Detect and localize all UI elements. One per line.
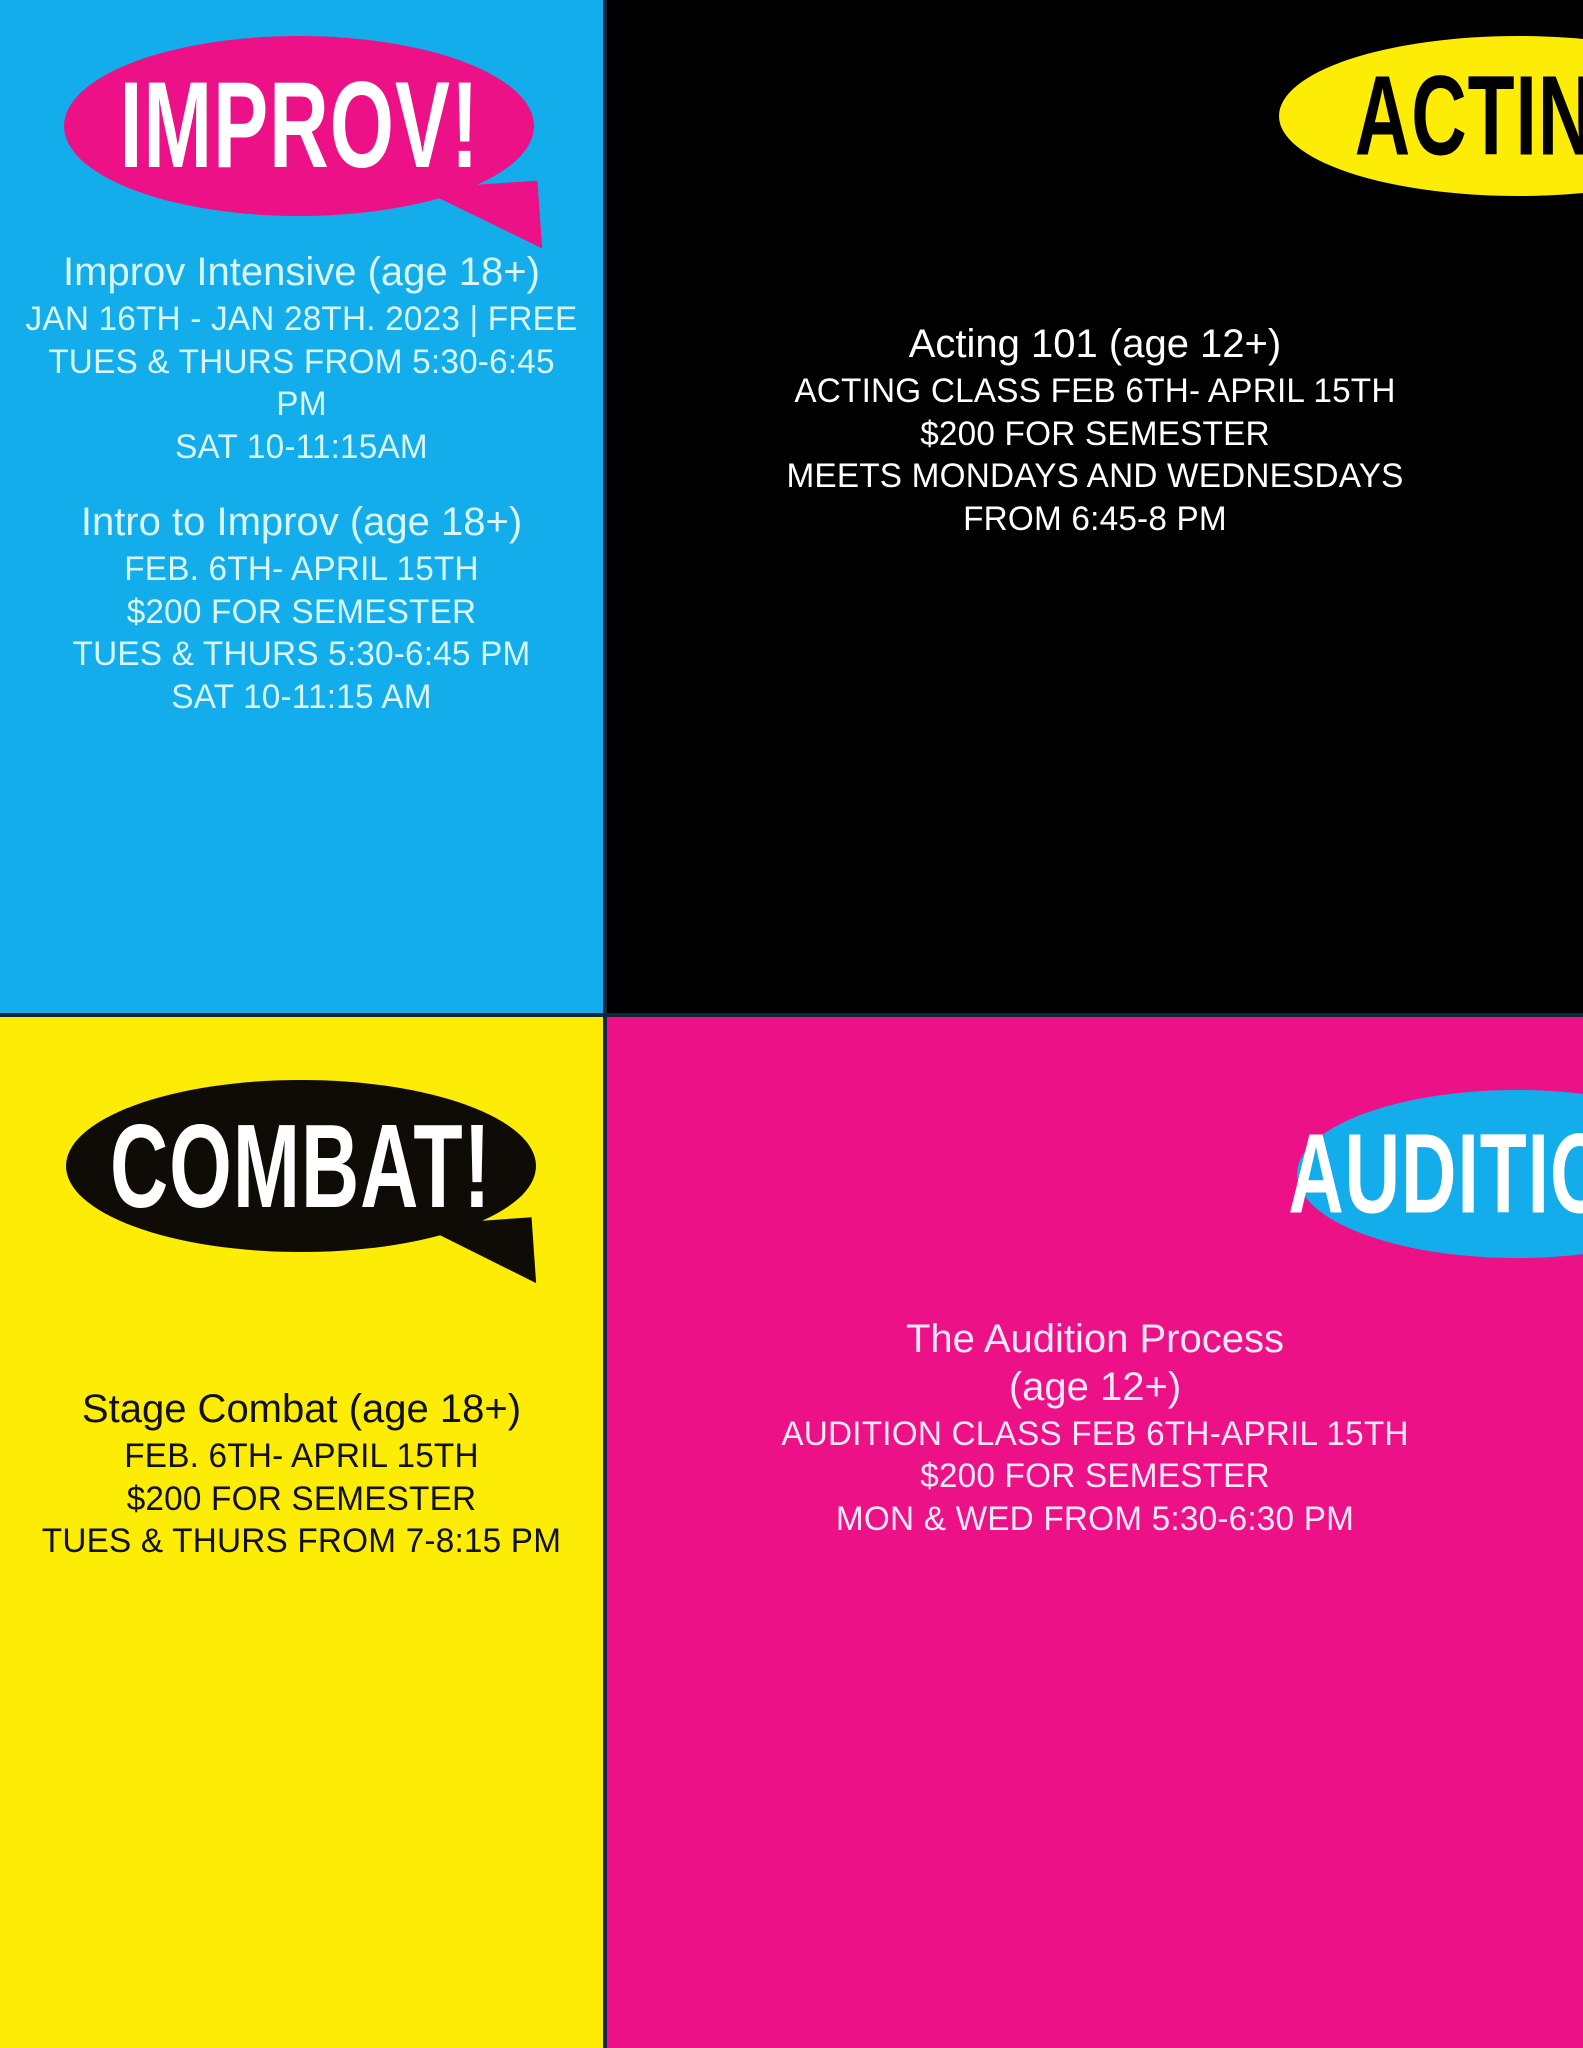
- course-detail-line: TUES & THURS FROM 7-8:15 PM: [20, 1520, 584, 1563]
- combat-bubble-label: COMBAT!: [110, 1106, 491, 1225]
- course-detail-line: $200 FOR SEMESTER: [20, 1478, 584, 1521]
- intro-to-improv-block: Intro to Improv (age 18+) FEB. 6TH- APRI…: [0, 500, 603, 719]
- course-title: Intro to Improv (age 18+): [14, 500, 589, 545]
- course-title: Stage Combat (age 18+): [14, 1387, 589, 1432]
- course-detail-line: AUDITION CLASS FEB 6TH-APRIL 15TH: [630, 1413, 1559, 1456]
- stage-combat-block: Stage Combat (age 18+) FEB. 6TH- APRIL 1…: [0, 1387, 603, 1563]
- acting-speech-bubble: ACTING!: [1279, 36, 1583, 196]
- improv-intensive-block: Improv Intensive (age 18+) JAN 16TH - JA…: [0, 250, 603, 469]
- course-title: Improv Intensive (age 18+): [14, 250, 589, 295]
- course-detail-line: $200 FOR SEMESTER: [630, 413, 1559, 456]
- panel-auditions: AUDITIONS! The Audition Process (age 12+…: [607, 1017, 1583, 2048]
- course-detail-line: $200 FOR SEMESTER: [20, 591, 584, 634]
- course-detail-line: FEB. 6TH- APRIL 15TH: [20, 1435, 584, 1478]
- course-title-line2: (age 12+): [621, 1365, 1569, 1410]
- audition-process-block: The Audition Process (age 12+) AUDITION …: [607, 1317, 1583, 1541]
- combat-speech-bubble: COMBAT!: [66, 1080, 536, 1252]
- panel-acting: ACTING! Acting 101 (age 12+) ACTING CLAS…: [607, 0, 1583, 1017]
- auditions-bubble-label: AUDITIONS!: [1288, 1117, 1583, 1231]
- class-schedule-poster: IMPROV! Improv Intensive (age 18+) JAN 1…: [0, 0, 1583, 2048]
- course-detail-line: JAN 16TH - JAN 28TH. 2023 | FREE: [20, 298, 584, 341]
- course-title: Acting 101 (age 12+): [621, 322, 1569, 367]
- course-detail-line: MON & WED FROM 5:30-6:30 PM: [630, 1498, 1559, 1541]
- auditions-speech-bubble: AUDITIONS!: [1297, 1090, 1583, 1258]
- course-detail-line: FEB. 6TH- APRIL 15TH: [20, 548, 584, 591]
- course-detail-line: ACTING CLASS FEB 6TH- APRIL 15TH: [630, 370, 1559, 413]
- course-title: The Audition Process: [621, 1317, 1569, 1362]
- course-detail-line: SAT 10-11:15AM: [20, 426, 584, 469]
- course-detail-line: FROM 6:45-8 PM: [630, 498, 1559, 541]
- course-detail-line: MEETS MONDAYS AND WEDNESDAYS: [630, 455, 1559, 498]
- acting-101-block: Acting 101 (age 12+) ACTING CLASS FEB 6T…: [607, 322, 1583, 541]
- panel-combat: COMBAT! Stage Combat (age 18+) FEB. 6TH-…: [0, 1017, 607, 2048]
- acting-bubble-label: ACTING!: [1355, 59, 1583, 173]
- improv-bubble-label: IMPROV!: [119, 65, 479, 187]
- course-detail-line: TUES & THURS 5:30-6:45 PM: [20, 633, 584, 676]
- course-detail-line: $200 FOR SEMESTER: [630, 1455, 1559, 1498]
- improv-speech-bubble: IMPROV!: [64, 36, 534, 216]
- course-detail-line: TUES & THURS FROM 5:30-6:45 PM: [20, 341, 584, 427]
- panel-improv: IMPROV! Improv Intensive (age 18+) JAN 1…: [0, 0, 607, 1017]
- course-detail-line: SAT 10-11:15 AM: [20, 676, 584, 719]
